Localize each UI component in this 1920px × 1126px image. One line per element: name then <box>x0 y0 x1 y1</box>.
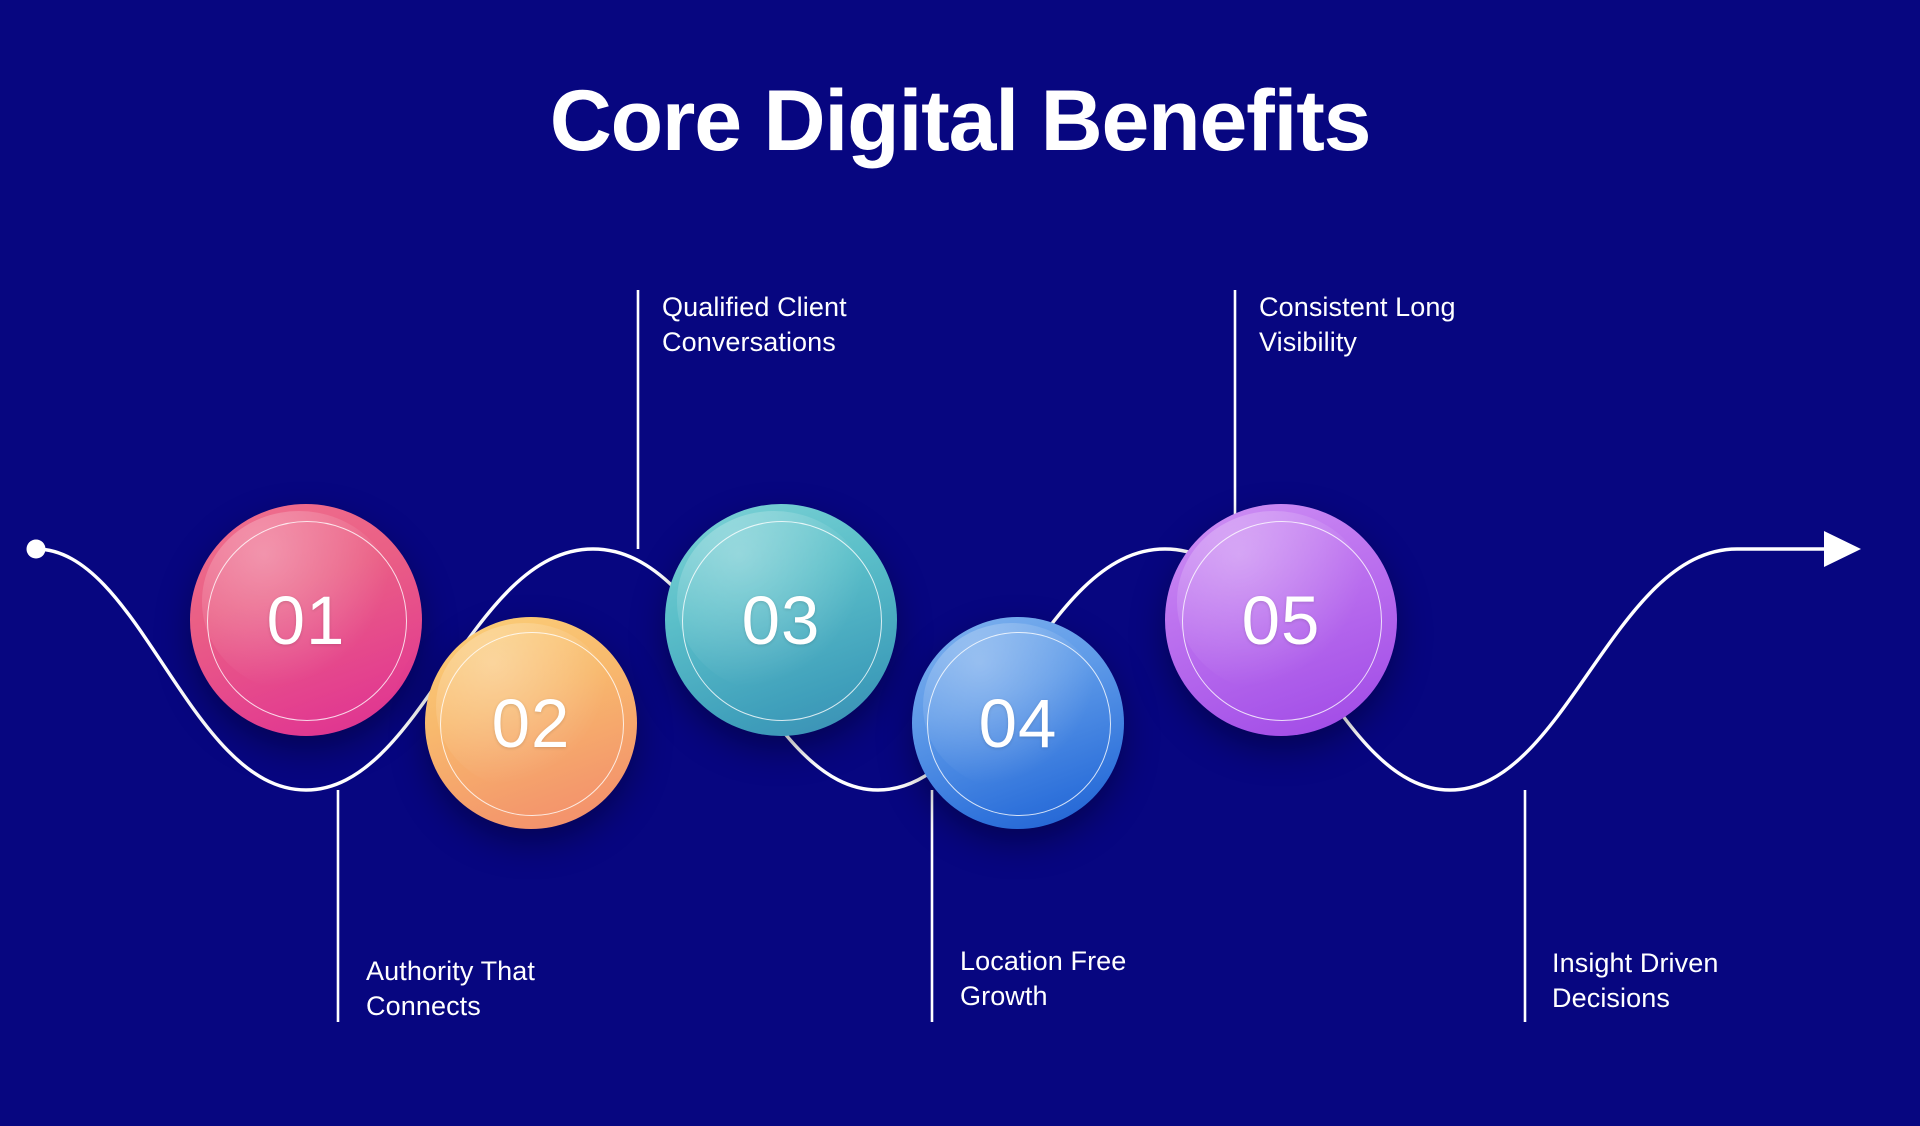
step-label-5: Insight Driven Decisions <box>1552 946 1862 1015</box>
step-node-4[interactable]: 04 <box>912 617 1124 829</box>
step-node-1[interactable]: 01 <box>190 504 422 736</box>
step-label-1: Authority That Connects <box>366 954 666 1023</box>
step-number-5: 05 <box>1242 586 1321 655</box>
step-number-3: 03 <box>742 586 821 655</box>
step-label-3: Location Free Growth <box>960 944 1260 1013</box>
arrowhead <box>1824 531 1861 567</box>
step-label-2: Qualified Client Conversations <box>662 290 962 359</box>
step-label-4: Consistent Long Visibility <box>1259 290 1569 359</box>
step-number-2: 02 <box>492 689 571 758</box>
step-node-3[interactable]: 03 <box>665 504 897 736</box>
infographic-canvas: Core Digital Benefits 01 02 03 04 0 <box>0 0 1920 1126</box>
step-node-5[interactable]: 05 <box>1165 504 1397 736</box>
step-number-1: 01 <box>267 586 346 655</box>
step-number-4: 04 <box>979 689 1058 758</box>
start-dot <box>27 540 46 559</box>
step-node-2[interactable]: 02 <box>425 617 637 829</box>
page-title: Core Digital Benefits <box>0 78 1920 164</box>
